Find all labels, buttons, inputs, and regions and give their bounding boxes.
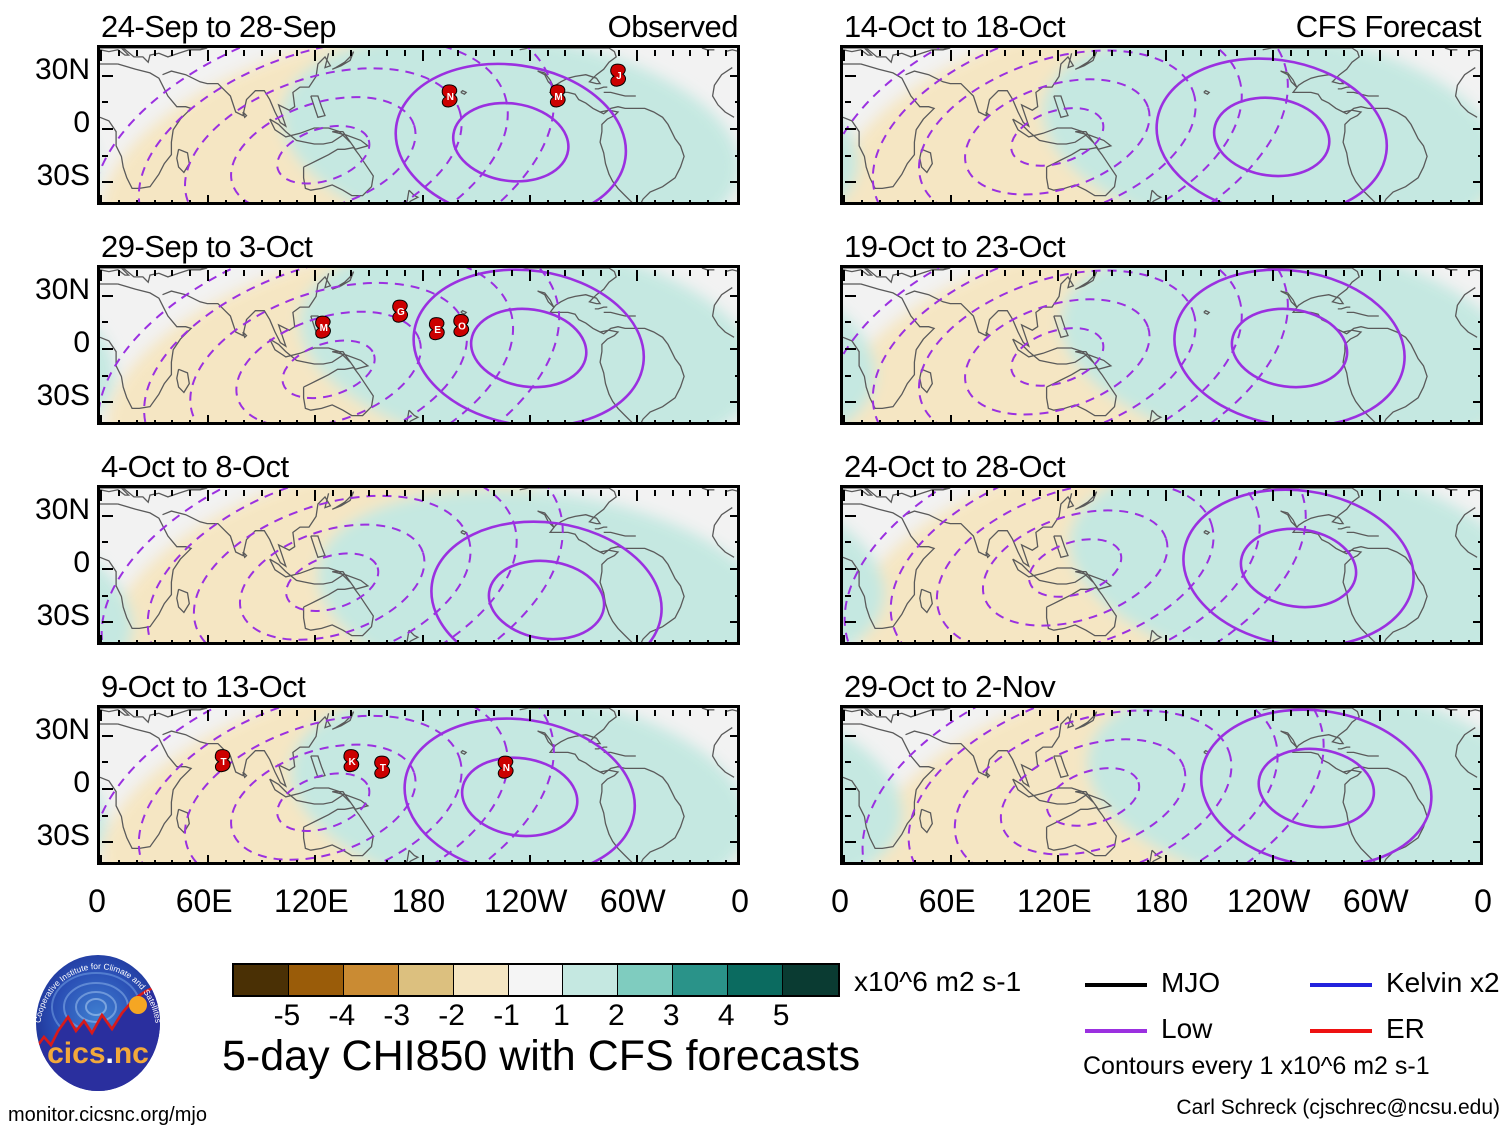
colorbar-swatch: [509, 965, 564, 995]
axis-tick: [1182, 710, 1184, 716]
x-axis-label: 120W: [484, 883, 568, 920]
y-axis-label: 30S: [2, 599, 90, 633]
y-axis-label: 0: [2, 766, 90, 800]
axis-tick: [1432, 270, 1434, 276]
axis-tick: [1022, 50, 1024, 56]
x-axis-label: 0: [831, 883, 849, 920]
axis-tick: [171, 270, 173, 276]
axis-tick: [897, 490, 899, 496]
axis-tick: [1343, 50, 1345, 56]
footer-author: Carl Schreck (cjschrec@ncsu.edu): [1176, 1096, 1500, 1120]
axis-tick: [386, 490, 388, 496]
axis-tick: [1075, 270, 1077, 276]
axis-tick: [493, 50, 495, 56]
axis-tick: [100, 50, 102, 61]
axis-tick: [845, 515, 856, 517]
axis-tick: [914, 490, 916, 496]
axis-tick: [600, 50, 602, 56]
axis-tick: [1200, 490, 1202, 496]
axis-tick: [845, 321, 851, 323]
storm-marker: T: [375, 756, 390, 778]
colorbar-tick-label: 2: [608, 999, 625, 1033]
axis-tick: [879, 710, 881, 716]
x-axis-label: 120E: [1017, 883, 1092, 920]
axis-tick: [1236, 490, 1238, 496]
axis-tick: [404, 710, 406, 716]
axis-tick: [102, 515, 113, 517]
axis-tick: [404, 490, 406, 496]
axis-tick: [564, 270, 566, 276]
axis-tick: [636, 490, 638, 501]
axis-tick: [332, 490, 334, 496]
svg-text:J: J: [616, 71, 622, 82]
map-canvas: [840, 705, 1483, 865]
axis-tick: [279, 270, 281, 276]
axis-tick: [1415, 270, 1417, 276]
axis-tick: [1182, 490, 1184, 496]
panel-title: 24-Oct to 28-Oct: [844, 449, 1065, 485]
axis-tick: [279, 490, 281, 496]
axis-tick: [102, 75, 113, 77]
axis-tick: [1450, 710, 1452, 716]
storm-marker: N: [498, 756, 513, 778]
axis-tick: [1129, 50, 1131, 56]
axis-tick: [457, 490, 459, 496]
axis-tick: [1022, 270, 1024, 276]
axis-tick: [1075, 50, 1077, 56]
axis-tick: [932, 710, 934, 716]
axis-tick: [154, 50, 156, 56]
axis-tick: [1468, 710, 1470, 716]
axis-tick: [547, 50, 549, 56]
axis-tick: [332, 710, 334, 716]
axis-tick: [1415, 490, 1417, 496]
axis-tick: [1111, 50, 1113, 56]
axis-tick: [1397, 270, 1399, 276]
axis-tick: [314, 50, 316, 61]
axis-tick: [136, 710, 138, 716]
axis-tick: [171, 50, 173, 56]
axis-tick: [296, 490, 298, 496]
legend-line-er: [1310, 1029, 1372, 1033]
axis-tick: [243, 270, 245, 276]
axis-tick: [707, 490, 709, 496]
axis-tick: [672, 490, 674, 496]
axis-tick: [986, 710, 988, 716]
colorbar-swatch: [399, 965, 454, 995]
axis-tick: [582, 270, 584, 276]
axis-tick: [600, 490, 602, 496]
axis-tick: [950, 270, 952, 281]
y-axis-label: 0: [2, 106, 90, 140]
axis-tick: [914, 50, 916, 56]
axis-tick: [1039, 710, 1041, 716]
axis-tick: [1200, 270, 1202, 276]
axis-tick: [968, 710, 970, 716]
panel-1: 24-Sep to 28-SepObservedNMJ: [97, 45, 740, 205]
axis-tick: [845, 735, 856, 737]
axis-tick: [600, 710, 602, 716]
axis-tick: [1004, 490, 1006, 496]
axis-tick: [1450, 270, 1452, 276]
axis-tick: [845, 128, 856, 130]
axis-tick: [1111, 710, 1113, 716]
axis-tick: [457, 270, 459, 276]
axis-tick: [950, 490, 952, 501]
svg-text:N: N: [503, 763, 510, 774]
axis-tick: [1022, 710, 1024, 716]
panel-2: 29-Sep to 3-OctMGEO: [97, 265, 740, 425]
axis-tick: [1182, 270, 1184, 276]
axis-tick: [102, 155, 108, 157]
axis-tick: [529, 50, 531, 61]
y-axis-label: 0: [2, 326, 90, 360]
axis-tick: [986, 490, 988, 496]
axis-tick: [1057, 710, 1059, 721]
axis-tick: [225, 50, 227, 56]
axis-tick: [1361, 710, 1363, 716]
svg-text:O: O: [458, 322, 466, 333]
panel-8: 29-Oct to 2-Nov: [840, 705, 1483, 865]
axis-tick: [725, 270, 727, 276]
axis-tick: [422, 710, 424, 721]
axis-tick: [1379, 710, 1381, 721]
legend-label: Low: [1161, 1013, 1212, 1045]
axis-tick: [845, 541, 851, 543]
y-axis-label: 30N: [2, 493, 90, 527]
axis-tick: [564, 50, 566, 56]
axis-tick: [1325, 710, 1327, 716]
figure-caption: 5-day CHI850 with CFS forecasts: [222, 1032, 860, 1081]
axis-tick: [843, 270, 845, 281]
axis-tick: [1111, 270, 1113, 276]
axis-tick: [171, 710, 173, 716]
axis-tick: [845, 295, 856, 297]
storm-marker: M: [550, 85, 565, 107]
axis-tick: [1004, 50, 1006, 56]
axis-tick: [950, 50, 952, 61]
axis-tick: [672, 50, 674, 56]
axis-tick: [189, 50, 191, 56]
axis-tick: [1075, 710, 1077, 716]
legend-line-kelvin-x2: [1310, 983, 1372, 987]
axis-tick: [861, 490, 863, 496]
x-axis-label: 60E: [919, 883, 976, 920]
axis-tick: [1432, 710, 1434, 716]
axis-tick: [314, 270, 316, 281]
axis-tick: [404, 50, 406, 56]
panel-title: 29-Sep to 3-Oct: [101, 229, 312, 265]
map-canvas: [840, 265, 1483, 425]
axis-tick: [914, 710, 916, 716]
axis-tick: [102, 735, 113, 737]
svg-text:K: K: [348, 757, 356, 768]
axis-tick: [1397, 490, 1399, 496]
panel-5: 14-Oct to 18-OctCFS Forecast: [840, 45, 1483, 205]
axis-tick: [1432, 490, 1434, 496]
axis-tick: [102, 375, 108, 377]
storm-marker: O: [454, 315, 469, 337]
x-axis-forecast: 060E120E180120W60W0: [840, 883, 1483, 923]
axis-tick: [1129, 710, 1131, 716]
axis-tick: [1129, 270, 1131, 276]
axis-tick: [1147, 490, 1149, 496]
axis-tick: [475, 490, 477, 496]
axis-tick: [1361, 270, 1363, 276]
axis-tick: [1397, 50, 1399, 56]
axis-tick: [296, 270, 298, 276]
axis-tick: [102, 841, 113, 843]
axis-tick: [636, 270, 638, 281]
axis-tick: [102, 595, 108, 597]
axis-tick: [1147, 270, 1149, 276]
axis-tick: [189, 490, 191, 496]
axis-tick: [914, 270, 916, 276]
axis-tick: [102, 295, 113, 297]
y-axis-label: 30S: [2, 819, 90, 853]
axis-tick: [189, 710, 191, 716]
legend-label: ER: [1386, 1013, 1425, 1045]
axis-tick: [100, 490, 102, 501]
axis-tick: [136, 50, 138, 56]
x-axis-label: 120E: [274, 883, 349, 920]
axis-tick: [1272, 50, 1274, 61]
axis-tick: [1272, 270, 1274, 281]
y-axis-label: 30S: [2, 159, 90, 193]
axis-tick: [102, 621, 113, 623]
axis-tick: [296, 710, 298, 716]
axis-tick: [207, 270, 209, 281]
axis-tick: [386, 50, 388, 56]
axis-tick: [636, 50, 638, 61]
column-header-forecast: CFS Forecast: [1296, 9, 1481, 45]
axis-tick: [707, 270, 709, 276]
axis-tick: [672, 710, 674, 716]
axis-tick: [845, 595, 851, 597]
axis-tick: [968, 270, 970, 276]
colorbar-tick-label: -2: [438, 999, 465, 1033]
axis-tick: [332, 270, 334, 276]
axis-tick: [564, 710, 566, 716]
panel-title: 19-Oct to 23-Oct: [844, 229, 1065, 265]
colorbar-swatch: [618, 965, 673, 995]
axis-tick: [102, 541, 108, 543]
svg-text:M: M: [554, 92, 562, 103]
axis-tick: [225, 710, 227, 716]
axis-tick: [154, 710, 156, 716]
cics-nc-logo: Cooperative Institute for Climate and Sa…: [18, 945, 178, 1110]
axis-tick: [600, 270, 602, 276]
axis-tick: [350, 710, 352, 716]
storm-marker: N: [442, 85, 457, 107]
axis-tick: [511, 710, 513, 716]
axis-tick: [475, 710, 477, 716]
axis-tick: [493, 270, 495, 276]
axis-tick: [1004, 710, 1006, 716]
axis-tick: [1325, 50, 1327, 56]
axis-tick: [1200, 50, 1202, 56]
axis-tick: [1039, 490, 1041, 496]
axis-tick: [845, 155, 851, 157]
axis-tick: [243, 50, 245, 56]
axis-tick: [861, 50, 863, 56]
axis-tick: [529, 270, 531, 281]
axis-tick: [1307, 50, 1309, 56]
x-axis-label: 180: [1135, 883, 1188, 920]
colorbar-tick-label: -3: [383, 999, 410, 1033]
axis-tick: [897, 710, 899, 716]
map-canvas: MGEO: [97, 265, 740, 425]
axis-tick: [100, 710, 102, 721]
axis-tick: [707, 50, 709, 56]
colorbar-swatch: [289, 965, 344, 995]
axis-tick: [861, 270, 863, 276]
axis-tick: [368, 490, 370, 496]
colorbar-swatch: [344, 965, 399, 995]
axis-tick: [845, 75, 856, 77]
axis-tick: [1361, 50, 1363, 56]
axis-tick: [457, 50, 459, 56]
storm-marker: M: [316, 316, 331, 338]
axis-tick: [1165, 270, 1167, 281]
axis-tick: [654, 50, 656, 56]
axis-tick: [100, 270, 102, 281]
axis-tick: [636, 710, 638, 721]
panel-title: 4-Oct to 8-Oct: [101, 449, 289, 485]
axis-tick: [1218, 710, 1220, 716]
axis-tick: [932, 50, 934, 56]
x-axis-label: 180: [392, 883, 445, 920]
colorbar-swatch: [673, 965, 728, 995]
axis-tick: [422, 270, 424, 281]
axis-tick: [136, 490, 138, 496]
axis-tick: [845, 181, 856, 183]
svg-text:T: T: [220, 757, 226, 768]
y-axis-label: 30N: [2, 273, 90, 307]
axis-tick: [1468, 270, 1470, 276]
axis-tick: [1290, 490, 1292, 496]
axis-tick: [386, 710, 388, 716]
axis-tick: [725, 710, 727, 716]
axis-tick: [672, 270, 674, 276]
colorbar-swatch: [728, 965, 783, 995]
axis-tick: [350, 50, 352, 56]
axis-tick: [1361, 490, 1363, 496]
axis-tick: [547, 710, 549, 716]
axis-tick: [843, 50, 845, 61]
panel-title: 14-Oct to 18-Oct: [844, 9, 1065, 45]
axis-tick: [689, 270, 691, 276]
axis-tick: [279, 710, 281, 716]
axis-tick: [1307, 270, 1309, 276]
axis-tick: [171, 490, 173, 496]
axis-tick: [654, 270, 656, 276]
axis-tick: [118, 710, 120, 716]
axis-tick: [1254, 490, 1256, 496]
axis-tick: [1379, 270, 1381, 281]
axis-tick: [1165, 710, 1167, 721]
panel-title: 24-Sep to 28-Sep: [101, 9, 336, 45]
axis-tick: [1147, 710, 1149, 716]
legend-label: MJO: [1161, 967, 1220, 999]
axis-tick: [102, 788, 113, 790]
axis-tick: [296, 50, 298, 56]
axis-tick: [1182, 50, 1184, 56]
axis-tick: [845, 621, 856, 623]
svg-text:G: G: [397, 307, 405, 318]
axis-tick: [1165, 50, 1167, 61]
axis-tick: [511, 50, 513, 56]
axis-tick: [314, 490, 316, 501]
axis-tick: [986, 270, 988, 276]
axis-tick: [1236, 710, 1238, 716]
colorbar-swatch: [783, 965, 838, 995]
axis-tick: [102, 101, 108, 103]
axis-tick: [350, 490, 352, 496]
axis-tick: [1272, 490, 1274, 501]
axis-tick: [439, 50, 441, 56]
axis-tick: [1039, 270, 1041, 276]
colorbar-tick-label: 5: [773, 999, 790, 1033]
axis-tick: [1093, 710, 1095, 716]
axis-tick: [350, 270, 352, 276]
axis-tick: [689, 490, 691, 496]
axis-tick: [1290, 710, 1292, 716]
svg-text:E: E: [434, 325, 441, 336]
axis-tick: [845, 401, 856, 403]
colorbar-tick-label: 1: [553, 999, 570, 1033]
axis-tick: [493, 710, 495, 716]
axis-tick: [189, 270, 191, 276]
axis-tick: [932, 490, 934, 496]
axis-tick: [968, 490, 970, 496]
axis-tick: [225, 270, 227, 276]
storm-marker: E: [429, 318, 444, 340]
x-axis-label: 120W: [1227, 883, 1311, 920]
axis-tick: [102, 815, 108, 817]
axis-tick: [986, 50, 988, 56]
x-axis-label: 0: [88, 883, 106, 920]
axis-tick: [1343, 490, 1345, 496]
axis-tick: [422, 50, 424, 61]
colorbar-tick-label: 3: [663, 999, 680, 1033]
axis-tick: [1236, 50, 1238, 56]
axis-tick: [118, 490, 120, 496]
axis-tick: [1218, 490, 1220, 496]
axis-tick: [102, 321, 108, 323]
colorbar-tick-label: -5: [274, 999, 301, 1033]
axis-tick: [102, 761, 108, 763]
axis-tick: [1236, 270, 1238, 276]
axis-tick: [582, 490, 584, 496]
axis-tick: [154, 270, 156, 276]
axis-tick: [1093, 270, 1095, 276]
axis-tick: [102, 401, 113, 403]
axis-tick: [102, 128, 113, 130]
axis-tick: [261, 490, 263, 496]
axis-tick: [1343, 710, 1345, 716]
y-axis-label: 30N: [2, 713, 90, 747]
axis-tick: [368, 710, 370, 716]
axis-tick: [618, 50, 620, 56]
y-axis-label: 0: [2, 546, 90, 580]
svg-text:N: N: [447, 92, 454, 103]
legend-line-mjo: [1085, 983, 1147, 987]
storm-marker: K: [344, 750, 359, 772]
x-axis-label: 60W: [1343, 883, 1409, 920]
axis-tick: [118, 270, 120, 276]
axis-tick: [1254, 270, 1256, 276]
